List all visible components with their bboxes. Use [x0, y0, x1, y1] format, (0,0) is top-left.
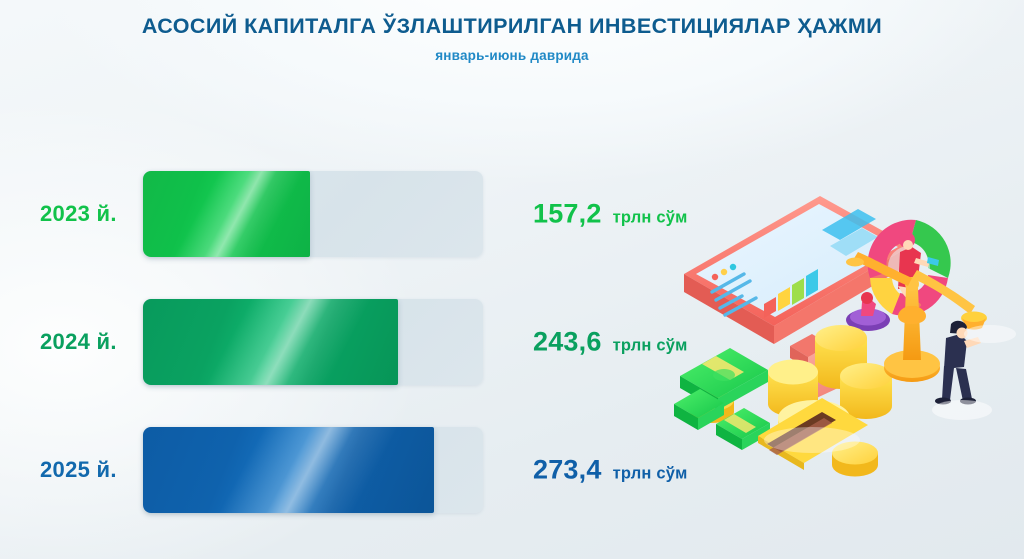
isometric-finance-illustration	[672, 178, 1024, 478]
screen-dot-yellow	[721, 269, 727, 275]
value-number-2023: 157,2	[533, 199, 602, 229]
page-subtitle: январь-июнь даврида	[0, 48, 1024, 63]
chart-row-2024: 2024 й. 243,6трлн сўм	[0, 278, 660, 406]
scale-pan-shadow	[964, 325, 1016, 343]
man-leg-back	[942, 366, 954, 400]
man-shadow	[932, 400, 992, 420]
bar-track-2024	[143, 299, 483, 385]
header: АСОСИЙ КАПИТАЛГА ЎЗЛАШТИРИЛГАН ИНВЕСТИЦИ…	[0, 14, 1024, 63]
screen-dot-red	[712, 274, 718, 280]
year-label-2023: 2023 й.	[40, 201, 117, 227]
bar-chart: 2023 й. 157,2трлн сўм 2024 й. 243,6трлн …	[0, 150, 660, 534]
coin-shadow	[764, 427, 860, 453]
chart-row-2023: 2023 й. 157,2трлн сўм	[0, 150, 660, 278]
value-number-2025: 273,4	[533, 455, 602, 485]
chart-row-2025: 2025 й. 273,4трлн сўм	[0, 406, 660, 534]
finance-illustration-svg	[672, 178, 1024, 478]
page-title: АСОСИЙ КАПИТАЛГА ЎЗЛАШТИРИЛГАН ИНВЕСТИЦИ…	[0, 14, 1024, 39]
value-number-2024: 243,6	[533, 327, 602, 357]
man-torso	[944, 334, 967, 369]
value-2024: 243,6трлн сўм	[533, 327, 688, 358]
bar-fill-2025	[143, 427, 434, 513]
value-2023: 157,2трлн сўм	[533, 199, 688, 230]
bar-fill-2024	[143, 299, 398, 385]
bar-fill-2023	[143, 171, 310, 257]
value-2025: 273,4трлн сўм	[533, 455, 688, 486]
woman-face	[903, 240, 913, 250]
year-label-2025: 2025 й.	[40, 457, 117, 483]
man-leg-front	[956, 368, 972, 401]
cash-bundles	[674, 348, 770, 450]
bar-track-2025	[143, 427, 483, 513]
bar-track-2023	[143, 171, 483, 257]
year-label-2024: 2024 й.	[40, 329, 117, 355]
screen-dot-teal	[730, 264, 736, 270]
